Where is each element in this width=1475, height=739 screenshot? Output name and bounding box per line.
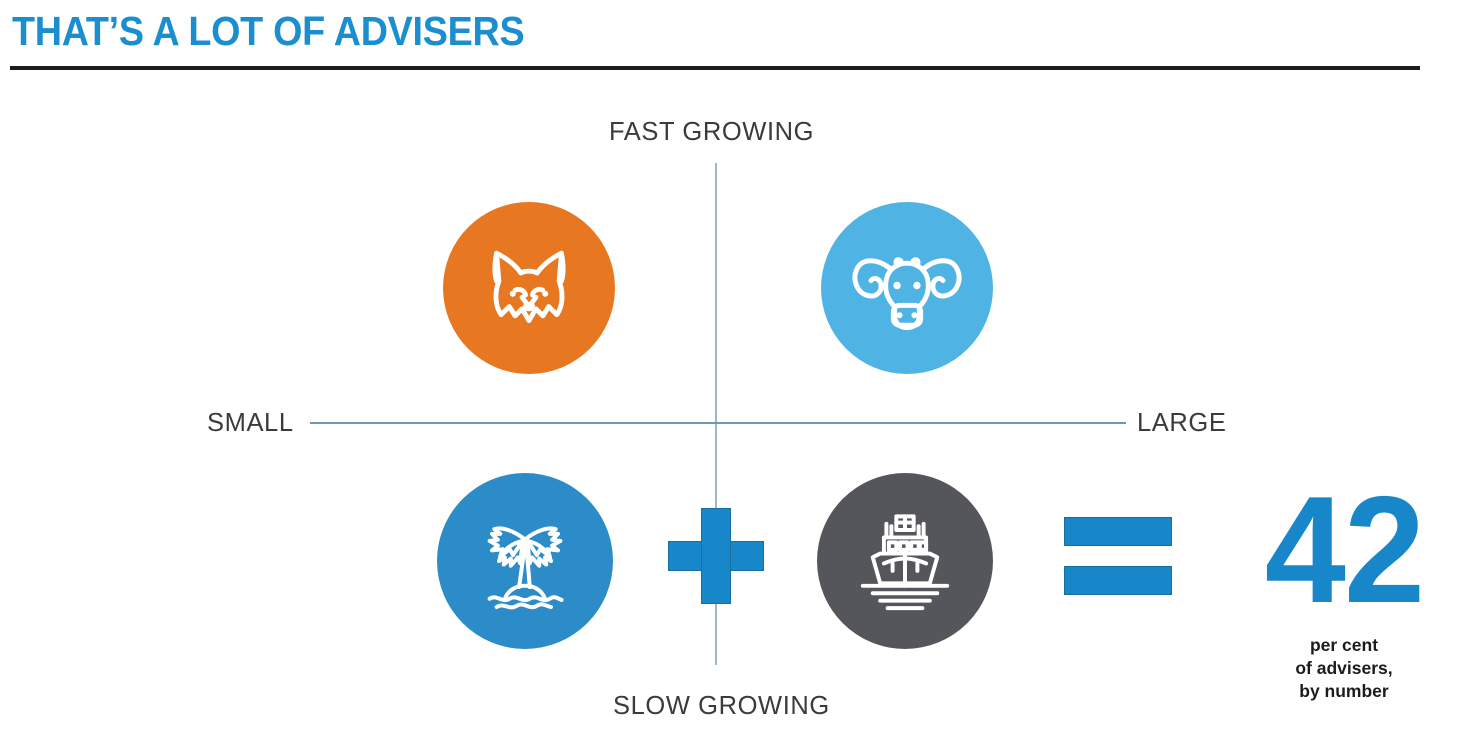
page-title: THAT’S A LOT OF ADVISERS	[12, 8, 524, 55]
equals-bottom-bar	[1064, 566, 1172, 595]
stat-caption: per cent of advisers, by number	[1244, 634, 1444, 704]
quadrant-bottom-left-palm-tree[interactable]	[437, 473, 613, 649]
quadrant-top-right-buffalo[interactable]	[821, 202, 993, 374]
stat-caption-line-3: by number	[1244, 680, 1444, 703]
quadrant-bottom-right-ship[interactable]	[817, 473, 993, 649]
slide-canvas: THAT’S A LOT OF ADVISERS FAST GROWING SL…	[0, 0, 1475, 739]
stat-number: 42	[1248, 476, 1440, 625]
axis-label-fast-growing: FAST GROWING	[609, 118, 814, 147]
axis-label-slow-growing: SLOW GROWING	[613, 692, 830, 721]
plus-vertical-bar	[701, 508, 731, 604]
stat-block: 42 per cent of advisers, by number	[1244, 476, 1444, 704]
equals-top-bar	[1064, 517, 1172, 546]
stat-caption-line-2: of advisers,	[1244, 657, 1444, 680]
axis-label-large: LARGE	[1137, 409, 1226, 438]
axis-label-small: SMALL	[207, 409, 294, 438]
title-divider-rule	[10, 66, 1420, 70]
quadrant-top-left-fox[interactable]	[443, 202, 615, 374]
matrix-horizontal-axis	[310, 422, 1126, 424]
plus-symbol	[668, 508, 764, 604]
ship-icon	[843, 499, 967, 623]
buffalo-icon	[845, 226, 969, 350]
palm-tree-icon	[466, 502, 584, 620]
fox-icon	[471, 230, 587, 346]
stat-caption-line-1: per cent	[1244, 634, 1444, 657]
equals-symbol	[1064, 517, 1172, 595]
